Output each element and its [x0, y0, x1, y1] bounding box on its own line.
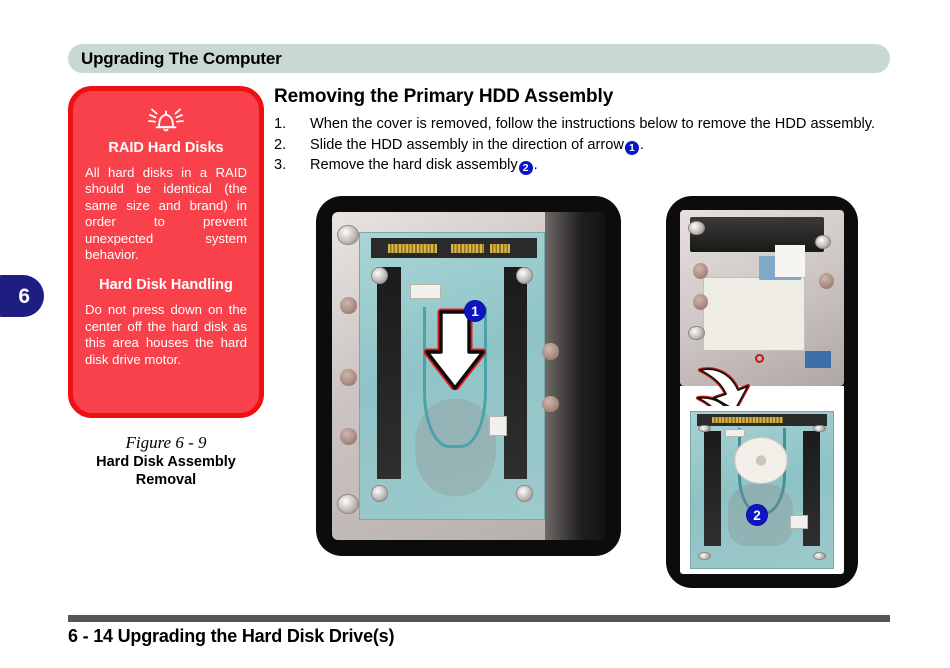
figure-number: Figure 6 - 9	[68, 432, 264, 453]
chassis-dark-strip	[545, 212, 605, 540]
hdd-label-barcode	[790, 515, 807, 529]
figure-title-line1: Hard Disk Assembly	[68, 453, 264, 471]
screw-point-marker	[755, 354, 764, 363]
bay-screw-bl	[688, 326, 704, 340]
warning-heading-handling: Hard Disk Handling	[85, 277, 247, 293]
footer-rule	[68, 615, 890, 622]
step-item-1: 1. When the cover is removed, follow the…	[274, 115, 890, 135]
bay-white-cable	[775, 245, 805, 277]
step-number: 1.	[274, 115, 310, 135]
hdd-label-tag	[410, 284, 441, 298]
bay-floor-plate	[703, 277, 805, 351]
chassis-hole-2	[340, 369, 356, 385]
removed-hdd-photo	[680, 406, 844, 574]
bay-blue-tag	[805, 351, 831, 369]
chassis-screw-tl	[337, 225, 359, 245]
photo-badge-1: 1	[464, 300, 486, 322]
step-item-3: 3. Remove the hard disk assembly2.	[274, 156, 890, 176]
hdd-screw-bl	[698, 552, 711, 560]
bay-screw-tl	[688, 221, 704, 235]
photo-hdd-removed: 2	[666, 196, 858, 588]
figure-caption: Figure 6 - 9 Hard Disk Assembly Removal	[68, 432, 264, 489]
chassis-hole-4	[542, 343, 558, 359]
left-sidebar-column: RAID Hard Disks All hard disks in a RAID…	[68, 86, 264, 489]
bay-screw-tr	[815, 235, 831, 249]
warning-heading-raid: RAID Hard Disks	[85, 140, 247, 156]
step-text-main: Remove the hard disk assembly	[310, 157, 518, 173]
caddy-screw-tr	[516, 267, 533, 284]
alarm-bell-icon	[85, 105, 247, 135]
step-text-tail: .	[534, 157, 538, 173]
empty-bay	[680, 210, 844, 386]
bay-hole-3	[819, 273, 834, 289]
step-number: 3.	[274, 156, 310, 176]
chassis-hole-5	[542, 396, 558, 412]
warning-body-handling: Do not press down on the center off the …	[85, 302, 247, 368]
hdd-label-small	[725, 429, 745, 437]
chapter-tab: 6	[0, 275, 44, 317]
hdd-foam-left	[704, 431, 721, 546]
instruction-steps-list: 1. When the cover is removed, follow the…	[274, 115, 890, 176]
step-item-2: 2. Slide the HDD assembly in the directi…	[274, 136, 890, 156]
hard-disk-assembly	[690, 411, 834, 569]
step-text-main: When the cover is removed, follow the in…	[310, 116, 875, 132]
main-content-column: Removing the Primary HDD Assembly 1. Whe…	[274, 86, 890, 177]
foam-pad-right	[504, 267, 528, 479]
sata-connector	[371, 238, 536, 258]
chassis-hole-3	[340, 428, 356, 444]
hdd-screw-br	[813, 552, 826, 560]
hdd-platter	[734, 437, 788, 484]
sata-contacts-mid	[451, 244, 484, 253]
page-title: Upgrading The Computer	[68, 49, 282, 69]
photo-badge-2: 2	[746, 504, 768, 526]
warning-body-raid: All hard disks in a RAID should be ident…	[85, 165, 247, 263]
figure-photographs: 1	[274, 196, 890, 596]
caddy-screw-bl	[371, 485, 388, 502]
step-text-main: Slide the HDD assembly in the direction …	[310, 137, 624, 153]
caddy-screw-tl	[371, 267, 388, 284]
bay-hole-1	[693, 263, 708, 279]
chassis-hole-1	[340, 297, 356, 313]
step-text-tail: .	[640, 137, 644, 153]
caddy-screw-br	[516, 485, 533, 502]
sata-contacts-left	[388, 244, 438, 253]
hdd-barcode-tag	[489, 416, 507, 436]
foam-pad-left	[377, 267, 401, 479]
hdd-sata-connector	[697, 414, 828, 426]
footer-page-label: 6 - 14 Upgrading the Hard Disk Drive(s)	[68, 626, 394, 647]
figure-title-line2: Removal	[68, 471, 264, 489]
warning-callout-box: RAID Hard Disks All hard disks in a RAID…	[68, 86, 264, 418]
hdd-sata-contacts	[712, 417, 783, 423]
step-number: 2.	[274, 136, 310, 156]
section-heading: Removing the Primary HDD Assembly	[274, 86, 890, 108]
hdd-screw-tl	[698, 425, 711, 433]
chassis-screw-bl	[337, 494, 359, 514]
chapter-tab-number: 6	[18, 286, 30, 307]
hdd-screw-tr	[813, 425, 826, 433]
step-text: Slide the HDD assembly in the direction …	[310, 136, 890, 156]
step-text: When the cover is removed, follow the in…	[310, 115, 890, 135]
inline-badge-1: 1	[625, 141, 639, 155]
step-text: Remove the hard disk assembly2.	[310, 156, 890, 176]
sata-contacts-right	[490, 244, 510, 253]
photo-hdd-bay-installed: 1	[316, 196, 621, 556]
inline-badge-2: 2	[519, 161, 533, 175]
running-header-bar: Upgrading The Computer	[68, 44, 890, 73]
